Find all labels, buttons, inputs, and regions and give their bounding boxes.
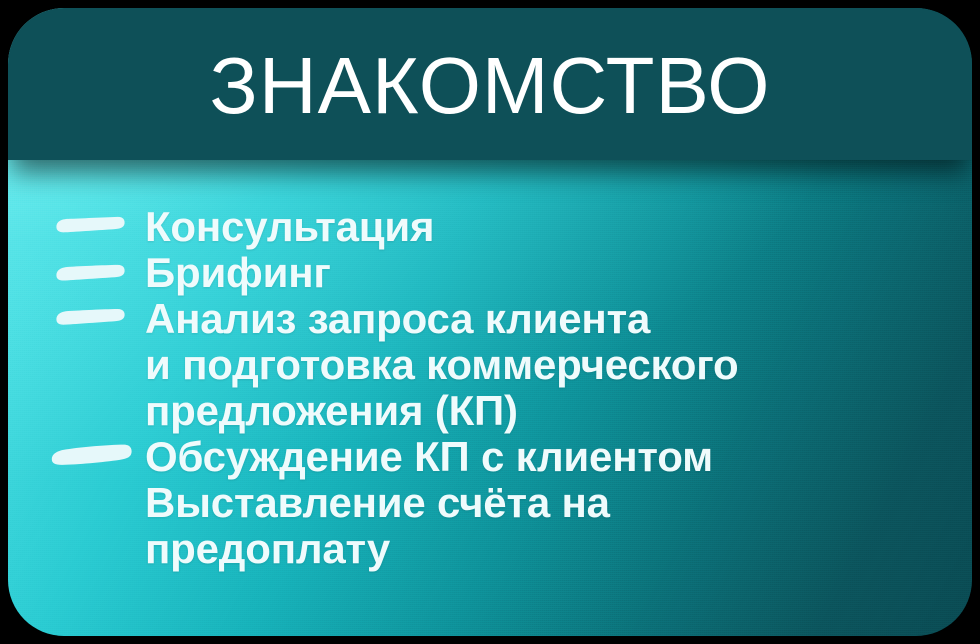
list-item-label: Выставление счёта на	[145, 480, 610, 526]
list-item-label: предложения (КП)	[145, 388, 518, 434]
list-item-label: предоплату	[145, 526, 390, 572]
dash-stroke-icon	[48, 444, 136, 466]
list-item: Обсуждение КП с клиентом	[8, 434, 972, 480]
list-item: и подготовка коммерческого	[8, 342, 972, 388]
list-item-label: Консультация	[145, 204, 434, 250]
list-item: Выставление счёта на	[8, 480, 972, 526]
header-bar: ЗНАКОМСТВО	[8, 8, 972, 160]
list-item-label: Обсуждение КП с клиентом	[145, 434, 713, 480]
list-item: предложения (КП)	[8, 388, 972, 434]
dash-stroke-icon	[53, 308, 129, 326]
list-item-label: Брифинг	[145, 250, 331, 296]
list-item: предоплату	[8, 526, 972, 572]
dash-stroke-icon	[53, 264, 129, 282]
list-item-label: и подготовка коммерческого	[145, 342, 738, 388]
slide-root: ЗНАКОМСТВО КонсультацияБрифингАнализ зап…	[0, 0, 980, 644]
dash-stroke-icon	[53, 216, 129, 234]
list-item: Брифинг	[8, 250, 972, 296]
list-item: Консультация	[8, 204, 972, 250]
list-item-label: Анализ запроса клиента	[145, 296, 650, 342]
page-title: ЗНАКОМСТВО	[210, 46, 771, 126]
list-item: Анализ запроса клиента	[8, 296, 972, 342]
content-area: КонсультацияБрифингАнализ запроса клиент…	[8, 160, 972, 636]
